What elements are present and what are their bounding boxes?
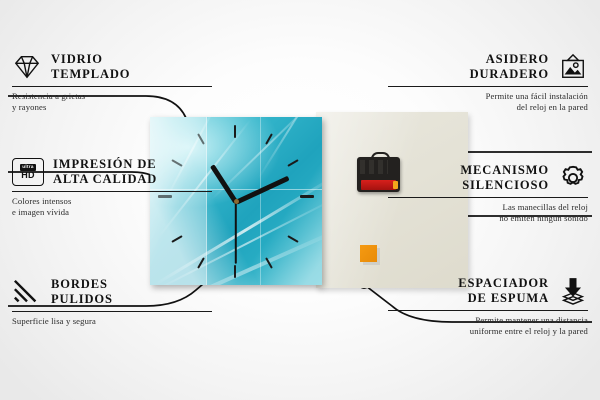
diamond-icon (12, 53, 42, 81)
clock-tick (287, 159, 298, 167)
infographic-canvas: VIDRIO TEMPLADO Resistencia a grietas y … (0, 0, 600, 400)
feature-title: ESPACIADOR DE ESPUMA (458, 276, 549, 307)
feature-title: VIDRIO TEMPLADO (51, 52, 130, 83)
clock-tick (287, 235, 298, 243)
feature-desc-line2: del reloj en la pared (388, 102, 588, 114)
divider (388, 310, 588, 311)
feature-title: MECANISMO SILENCIOSO (460, 163, 549, 194)
ultra-hd-icon-bottom-text: HD (21, 171, 34, 180)
divider (12, 191, 212, 192)
picture-frame-hanger-icon (558, 53, 588, 81)
feature-title: IMPRESIÓN DE ALTA CALIDAD (53, 157, 157, 188)
feature-desc-line2: e imagen vívida (12, 207, 212, 219)
feature-title: BORDES PULIDOS (51, 277, 113, 308)
feature-desc-line1: Permite mantener una distancia (388, 315, 588, 327)
feather-fiber (257, 117, 322, 179)
feature-desc-line1: Las manecillas del reloj (388, 202, 588, 214)
feature-header: ESPACIADOR DE ESPUMA (388, 276, 588, 307)
feature-desc-line1: Permite una fácil instalación (388, 91, 588, 103)
feature-desc-line1: Colores intensos (12, 196, 212, 208)
ultra-hd-icon: ultra HD (12, 158, 44, 186)
feature-desc-line2: y rayones (12, 102, 212, 114)
diagonal-lines-icon (12, 278, 42, 306)
divider (388, 86, 588, 87)
foam-spacer (360, 245, 377, 262)
divider (388, 197, 588, 198)
feature-vidrio-templado: VIDRIO TEMPLADO Resistencia a grietas y … (12, 52, 212, 114)
feature-desc-line2: uniforme entre el reloj y la pared (388, 326, 588, 338)
feature-header: ASIDERO DURADERO (388, 52, 588, 83)
clock-tick (234, 125, 236, 138)
clock-minute-hand (235, 176, 290, 205)
feature-header: VIDRIO TEMPLADO (12, 52, 212, 83)
feature-desc-line1: Superficie lisa y segura (12, 316, 212, 328)
divider (12, 86, 212, 87)
feature-bordes-pulidos: BORDES PULIDOS Superficie lisa y segura (12, 277, 212, 327)
clock-tick (300, 195, 314, 198)
feature-header: BORDES PULIDOS (12, 277, 212, 308)
clock-second-hand (235, 202, 237, 264)
feature-asidero-duradero: ASIDERO DURADERO Permite una fácil insta… (388, 52, 588, 114)
divider (12, 311, 212, 312)
press-down-layers-icon (558, 277, 588, 305)
feature-desc-line2: no emiten ningún sonido (388, 213, 588, 225)
gear-icon (558, 164, 588, 192)
clock-tick (234, 265, 236, 278)
feature-header: MECANISMO SILENCIOSO (388, 163, 588, 194)
feature-mecanismo-silencioso: MECANISMO SILENCIOSO Las manecillas del … (388, 163, 588, 225)
feature-title: ASIDERO DURADERO (470, 52, 549, 83)
feature-header: ultra HD IMPRESIÓN DE ALTA CALIDAD (12, 157, 212, 188)
feature-desc-line1: Resistencia a grietas (12, 91, 212, 103)
feature-impresion-alta-calidad: ultra HD IMPRESIÓN DE ALTA CALIDAD Color… (12, 157, 212, 219)
feature-espaciador-espuma: ESPACIADOR DE ESPUMA Permite mantener un… (388, 276, 588, 338)
clock-center-pin (234, 199, 239, 204)
glass-streak (260, 117, 261, 285)
